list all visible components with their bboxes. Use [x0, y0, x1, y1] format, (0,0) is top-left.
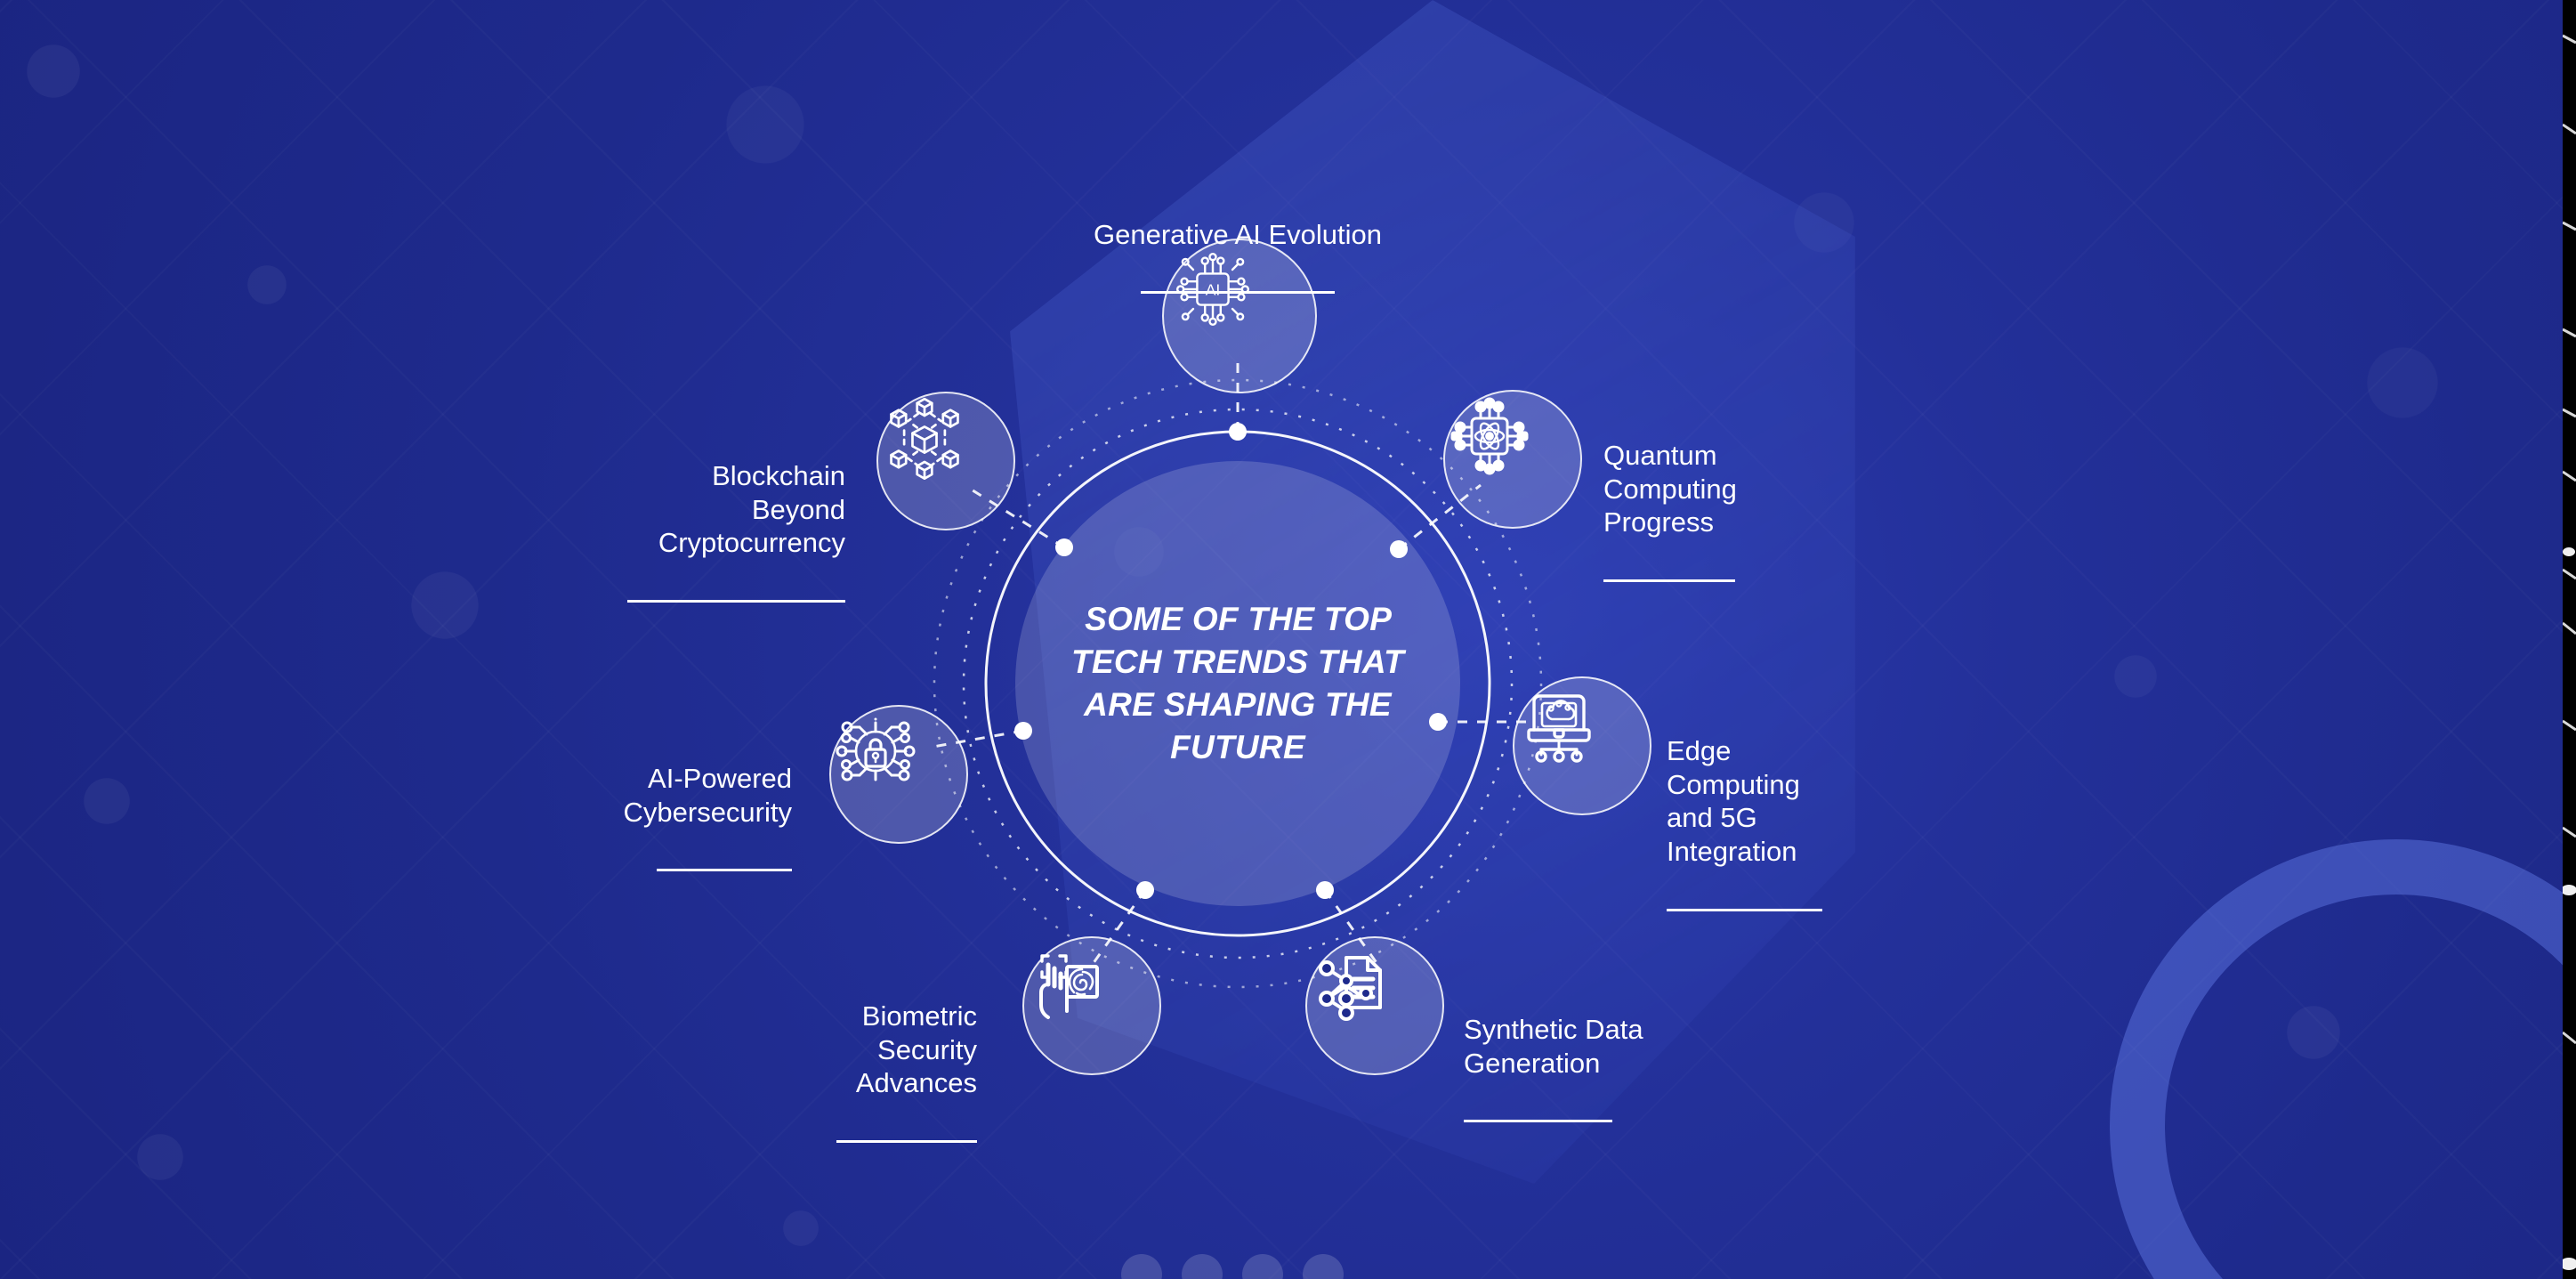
center-line-3: ARE — [1084, 686, 1154, 723]
label-synthetic-data: Synthetic Data Generation — [1464, 979, 1686, 1156]
center-line-4: SHAPING THE FUTURE — [1164, 686, 1392, 765]
label-underline — [1141, 291, 1335, 294]
center-line-1: SOME OF THE TOP — [1085, 601, 1391, 637]
node-blockchain[interactable] — [876, 392, 1015, 530]
radial-diagram: SOME OF THE TOP TECH TRENDS THAT ARE SHA… — [0, 0, 2576, 1279]
node-quantum-computing[interactable] — [1443, 390, 1582, 529]
label-blockchain: Blockchain Beyond Cryptocurrency — [578, 425, 845, 636]
label-biometric-security: Biometric Security Advances — [763, 966, 977, 1177]
label-underline — [1464, 1120, 1612, 1122]
label-underline — [836, 1140, 977, 1143]
label-quantum-computing: Quantum Computing Progress — [1603, 405, 1799, 616]
label-ai-cybersecurity: AI-Powered Cybersecurity — [534, 728, 792, 905]
label-underline — [1667, 909, 1822, 911]
node-edge-computing-5g[interactable] — [1513, 676, 1651, 815]
label-text: Generative AI Evolution — [1060, 218, 1416, 252]
page-edge-strip — [2563, 0, 2576, 1279]
label-underline — [657, 869, 792, 871]
node-biometric-security[interactable] — [1022, 936, 1161, 1075]
label-text: Synthetic Data Generation — [1464, 1013, 1686, 1081]
label-text: Blockchain Beyond Cryptocurrency — [578, 459, 845, 560]
label-text: Quantum Computing Progress — [1603, 439, 1799, 539]
label-text: AI-Powered Cybersecurity — [534, 762, 792, 830]
edge-tick-marks — [2563, 0, 2576, 1279]
label-underline — [1603, 579, 1735, 582]
label-edge-computing-5g: Edge Computing and 5G Integration — [1667, 700, 1871, 945]
label-text: Biometric Security Advances — [763, 1000, 977, 1100]
node-synthetic-data[interactable] — [1305, 936, 1444, 1075]
center-headline: SOME OF THE TOP TECH TRENDS THAT ARE SHA… — [1046, 598, 1429, 769]
label-generative-ai: Generative AI Evolution — [1060, 184, 1416, 328]
node-ai-cybersecurity[interactable] — [829, 705, 968, 844]
label-underline — [627, 600, 845, 603]
label-text: Edge Computing and 5G Integration — [1667, 734, 1871, 869]
center-hub: SOME OF THE TOP TECH TRENDS THAT ARE SHA… — [1015, 461, 1460, 906]
infographic-canvas: SOME OF THE TOP TECH TRENDS THAT ARE SHA… — [0, 0, 2576, 1279]
center-line-2: TECH TRENDS THAT — [1071, 644, 1404, 680]
